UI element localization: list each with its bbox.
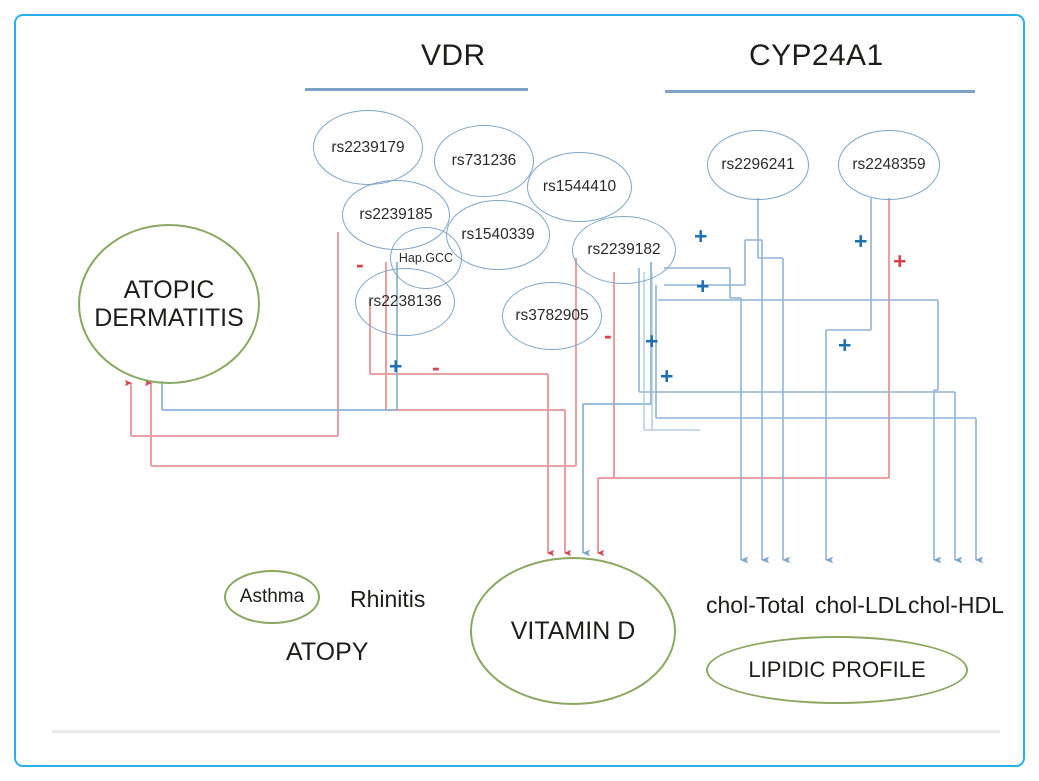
- effect-sign-5: -: [604, 324, 612, 347]
- snp-node-rs2296241[interactable]: rs2296241: [707, 130, 809, 200]
- effect-sign-10: +: [854, 230, 867, 253]
- effect-sign-3: +: [694, 225, 707, 248]
- figure-canvas: VDR CYP24A1 rs2239179 rs731236 rs1544410…: [0, 0, 1039, 781]
- outcome-node-asthma[interactable]: Asthma: [224, 570, 320, 624]
- effect-sign-6: +: [696, 275, 709, 298]
- snp-node-rs1544410[interactable]: rs1544410: [527, 152, 632, 222]
- label-chol-hdl: chol-HDL: [908, 592, 1004, 619]
- snp-node-rs2239182[interactable]: rs2239182: [572, 216, 676, 284]
- snp-node-rs3782905[interactable]: rs3782905: [502, 282, 602, 350]
- outcome-node-atopic-dermatitis[interactable]: ATOPIC DERMATITIS: [78, 224, 260, 384]
- label-chol-ldl: chol-LDL: [815, 592, 907, 619]
- label-rhinitis: Rhinitis: [350, 586, 425, 613]
- effect-sign-4: -: [432, 356, 440, 379]
- group-title-vdr: VDR: [421, 39, 486, 73]
- outcome-node-vitamin-d[interactable]: VITAMIN D: [470, 557, 676, 705]
- effect-sign-9: +: [838, 334, 851, 357]
- effect-sign-1: -: [356, 253, 364, 276]
- outcome-label-line2: DERMATITIS: [94, 304, 244, 332]
- effect-sign-7: +: [645, 330, 658, 353]
- snp-node-rs2248359[interactable]: rs2248359: [838, 130, 940, 200]
- label-atopy: ATOPY: [286, 638, 368, 667]
- effect-sign-11: +: [893, 250, 906, 273]
- outcome-node-lipidic-profile[interactable]: LIPIDIC PROFILE: [706, 636, 968, 704]
- effect-sign-2: +: [389, 355, 402, 378]
- effect-sign-8: +: [660, 365, 673, 388]
- snp-node-rs2239179[interactable]: rs2239179: [313, 110, 423, 185]
- group-title-cyp24a1: CYP24A1: [749, 39, 884, 73]
- group-rule-vdr: [305, 88, 528, 91]
- group-rule-cyp24a1: [665, 90, 975, 93]
- outcome-label-line1: ATOPIC: [124, 276, 215, 304]
- snp-node-rs731236[interactable]: rs731236: [434, 125, 534, 197]
- label-chol-total: chol-Total: [706, 592, 804, 619]
- snp-node-rs2238136[interactable]: rs2238136: [355, 268, 455, 336]
